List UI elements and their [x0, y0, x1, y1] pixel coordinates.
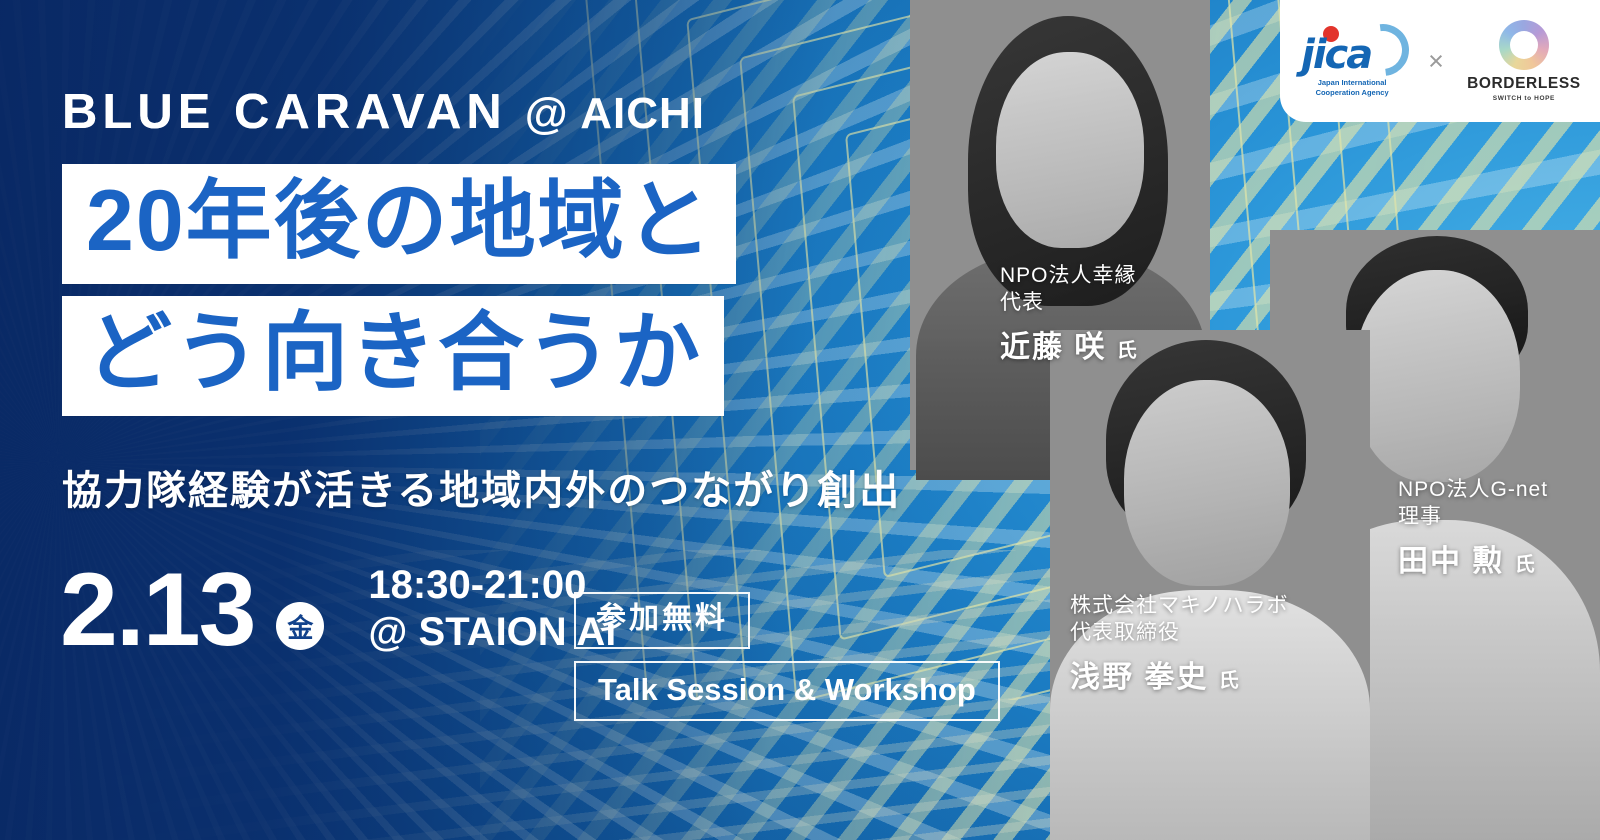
speaker-photo-2	[1050, 330, 1370, 840]
badge-free: 参加無料	[574, 592, 750, 649]
speaker-role: 理事	[1398, 503, 1548, 531]
kicker-main-text: BLUE CARAVAN	[62, 84, 507, 140]
speaker-name-text: 近藤 咲	[1000, 331, 1106, 364]
speaker-honorific: 氏	[1117, 340, 1138, 362]
speaker-name-text: 浅野 拳史	[1070, 661, 1208, 694]
event-badges: 参加無料 Talk Session & Workshop	[574, 592, 1000, 721]
photo-head	[1354, 270, 1520, 482]
speaker-caption-1: NPO法人幸縁 代表 近藤 咲 氏	[1000, 262, 1138, 366]
headline-line-1: 20年後の地域と	[86, 178, 714, 264]
speaker-name: 田中 勲 氏	[1398, 536, 1548, 580]
photo-head	[1124, 380, 1290, 586]
kicker-location-text: @ AICHI	[525, 89, 705, 139]
logo-separator-x-icon: ×	[1428, 46, 1444, 77]
speaker-caption-3: 株式会社マキノハラボ 代表取締役 浅野 拳史 氏	[1070, 592, 1289, 696]
borderless-tagline: SWITCH to HOPE	[1493, 95, 1555, 102]
jica-mark-icon: jica	[1297, 24, 1407, 80]
speaker-org: 株式会社マキノハラボ	[1070, 592, 1289, 619]
badge-talk: Talk Session & Workshop	[574, 661, 1000, 721]
borderless-ring-icon	[1499, 20, 1549, 70]
speaker-org: NPO法人幸縁	[1000, 262, 1138, 289]
borderless-name: BORDERLESS	[1467, 75, 1581, 93]
speaker-name-text: 田中 勲	[1398, 545, 1504, 578]
event-date: 2.13	[60, 563, 254, 659]
jica-subtitle: Japan International Cooperation Agency	[1316, 78, 1389, 98]
speaker-honorific: 氏	[1219, 670, 1240, 692]
speaker-name: 浅野 拳史 氏	[1070, 652, 1289, 696]
speaker-role: 代表取締役	[1070, 619, 1289, 647]
poster-kicker: BLUE CARAVAN @ AICHI	[62, 84, 705, 140]
jica-logo: jica Japan International Cooperation Age…	[1292, 24, 1412, 98]
event-day-of-week-badge: 金	[276, 602, 324, 650]
event-poster: NPO法人幸縁 代表 近藤 咲 氏 NPO法人G-net 理事 田中 勲 氏 株…	[0, 0, 1600, 840]
speaker-honorific: 氏	[1515, 554, 1536, 576]
photo-head	[996, 52, 1144, 248]
speaker-org: NPO法人G-net	[1398, 476, 1548, 503]
headline-band-2: どう向き合うか	[62, 296, 724, 416]
event-datetime: 2.13 金 18:30-21:00 @ STAION Ai	[60, 562, 616, 658]
headline-line-2: どう向き合うか	[86, 310, 702, 396]
speaker-caption-2: NPO法人G-net 理事 田中 勲 氏	[1398, 476, 1548, 580]
jica-subtitle-line-2: Cooperation Agency	[1316, 88, 1389, 98]
speaker-photos	[900, 0, 1600, 840]
borderless-logo: BORDERLESS SWITCH to HOPE	[1460, 20, 1588, 102]
poster-content: BLUE CARAVAN @ AICHI 20年後の地域と どう向き合うか 協力…	[0, 0, 1000, 840]
speaker-name: 近藤 咲 氏	[1000, 322, 1138, 366]
logo-panel: jica Japan International Cooperation Age…	[1280, 0, 1600, 122]
jica-wordmark: jica	[1301, 32, 1371, 78]
headline-band-1: 20年後の地域と	[62, 164, 736, 284]
poster-subtitle: 協力隊経験が活きる地域内外のつながり創出	[62, 458, 901, 516]
speaker-role: 代表	[1000, 289, 1138, 317]
